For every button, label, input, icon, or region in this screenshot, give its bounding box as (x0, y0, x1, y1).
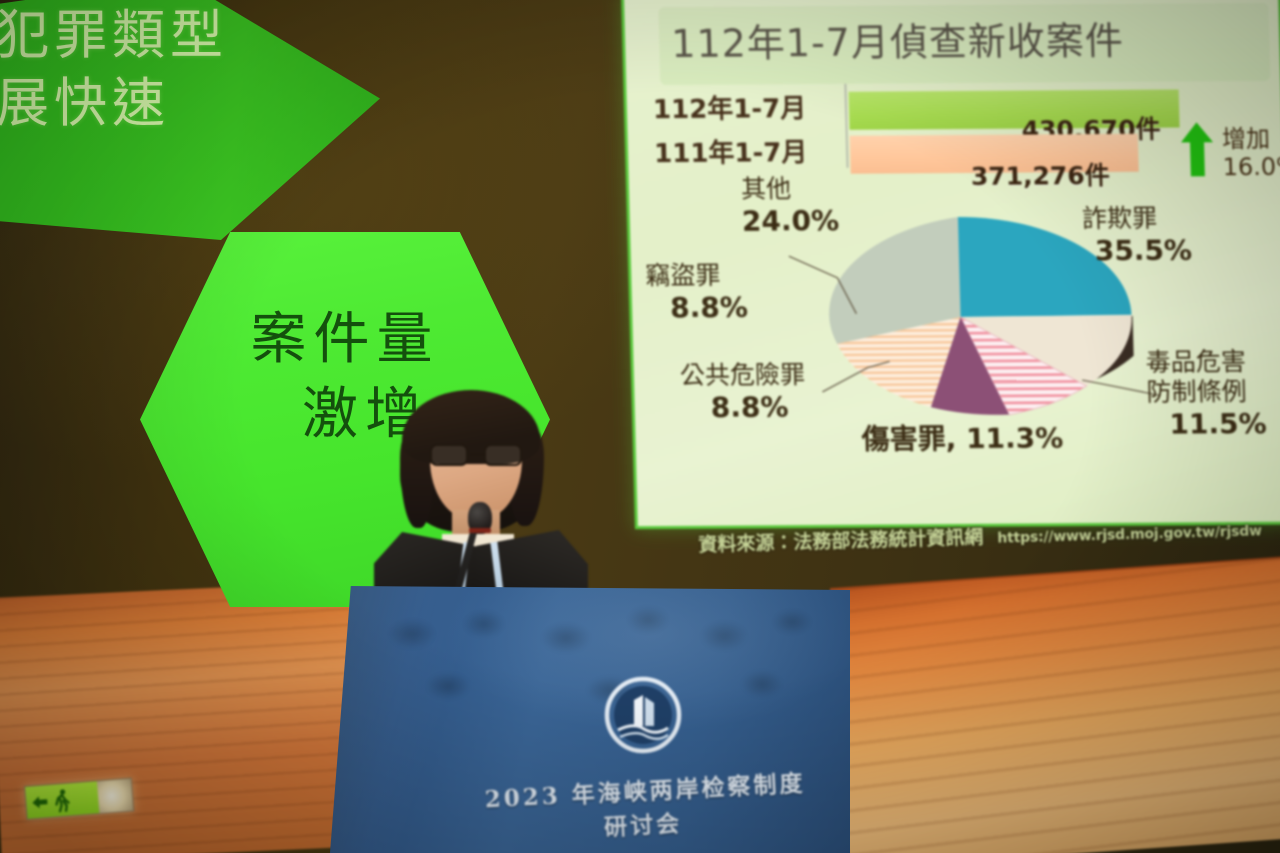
pie-label-other: 其他 24.0% (741, 174, 840, 238)
wood-panel-right (830, 557, 1280, 853)
eyeglasses-icon (428, 444, 526, 468)
projected-slide: 112年1-7月偵查新收案件 112年1-7月 430,670件 111年1-7… (621, 0, 1280, 529)
exit-sign-lamp (97, 779, 133, 814)
podium-left-edge (330, 586, 354, 853)
pie-label-drug-name-1: 毒品危害 (1145, 347, 1265, 378)
left-arrow-icon (31, 793, 49, 811)
slide-title: 112年1-7月偵查新收案件 (670, 9, 1274, 68)
up-arrow-icon (1179, 121, 1214, 177)
delta-label: 增加 (1222, 125, 1271, 153)
pie-label-fraud-pct: 35.5% (1082, 233, 1192, 267)
running-person-exit-icon (50, 787, 72, 812)
pie-label-fraud: 詐欺罪 35.5% (1082, 203, 1193, 267)
photo-scene: 犯罪類型 展快速 案件量 激增 112年1-7月偵查新收案件 112年1-7月 … (0, 0, 1280, 853)
arrow-text-line1: 犯罪類型 (0, 5, 228, 66)
exit-sign-green-panel (25, 781, 99, 819)
pie-label-fraud-name: 詐欺罪 (1082, 203, 1192, 234)
pie-label-injury: 傷害罪, 11.3% (861, 421, 1063, 456)
pie-label-drug-pct: 11.5% (1147, 407, 1267, 441)
pie-label-public-danger-name: 公共危險罪 (680, 360, 806, 391)
pie-label-public-danger-pct: 8.8% (680, 390, 806, 424)
pie-chart: 其他 24.0% 竊盜罪 8.8% 公共危險罪 8.8% 傷害罪, 11.3% … (629, 175, 1280, 480)
pie-label-injury-text: 傷害罪, 11.3% (861, 421, 1063, 456)
pie-label-drug-name-2: 防制條例 (1146, 377, 1266, 408)
pie-label-public-danger: 公共危險罪 8.8% (680, 360, 807, 424)
bar-label-111: 111年1-7月 (654, 132, 835, 170)
bar-chart: 112年1-7月 430,670件 111年1-7月 371,276件 增加 (648, 81, 1280, 181)
pie-label-other-pct: 24.0% (741, 204, 839, 238)
arrow-text-line2: 展快速 (0, 73, 170, 134)
pie-label-drug: 毒品危害 防制條例 11.5% (1145, 347, 1267, 441)
conference-emblem-icon (604, 676, 682, 754)
hexagon-text-line1: 案件量 (251, 307, 440, 372)
bar-label-112: 112年1-7月 (652, 88, 833, 126)
pie-label-theft-pct: 8.8% (646, 290, 749, 324)
slide-panel: 112年1-7月偵查新收案件 112年1-7月 430,670件 111年1-7… (621, 0, 1280, 529)
delta-callout: 增加 16.0% (1222, 124, 1280, 181)
pie-label-theft-name: 竊盜罪 (645, 260, 747, 291)
microphone-band (469, 528, 491, 533)
pie-label-theft: 竊盜罪 8.8% (645, 260, 748, 324)
pie-label-other-name: 其他 (741, 174, 839, 205)
bar-row: 112年1-7月 430,670件 (648, 83, 1279, 125)
